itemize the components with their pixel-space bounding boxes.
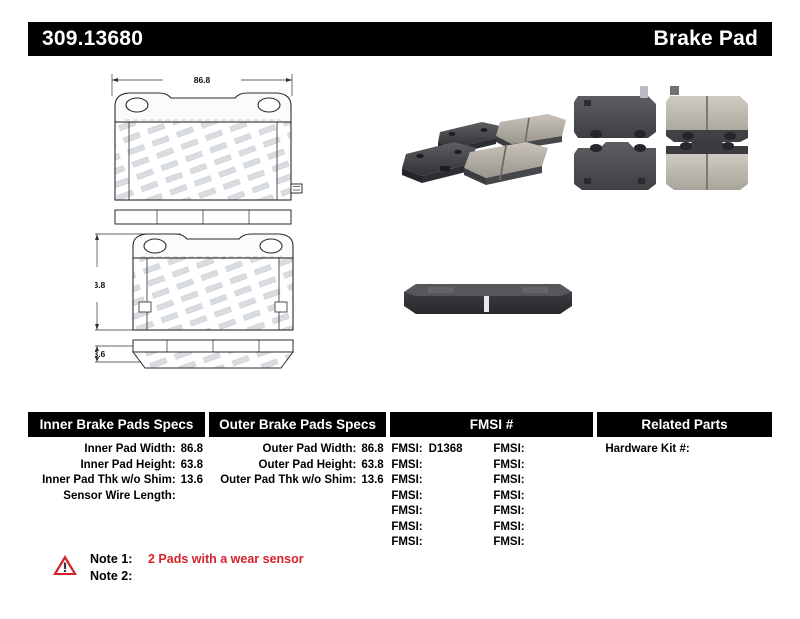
part-number: 309.13680 [42, 27, 143, 51]
spec-label: Inner Pad Height: [80, 458, 175, 474]
pad-flat-backing-top [574, 86, 656, 138]
pad-flat-face-top [666, 86, 748, 142]
fmsi-row: FMSI: D1368 [389, 442, 491, 458]
fmsi-row: FMSI: [491, 458, 593, 474]
fmsi-row: FMSI: [389, 520, 491, 536]
fmsi-label: FMSI: [493, 520, 524, 536]
fmsi-label: FMSI: [391, 442, 422, 458]
spec-label: Outer Pad Height: [259, 458, 357, 474]
spec-value: 86.8 [181, 442, 205, 458]
edge-notch-left [428, 287, 454, 293]
spec-row: Inner Pad Width: 86.8 [28, 442, 205, 458]
mounting-hole-right [258, 98, 280, 112]
photo-brake-pad-edge-view [398, 266, 578, 328]
fmsi-row: FMSI: [491, 504, 593, 520]
fmsi-label: FMSI: [391, 489, 422, 505]
note-1-label: Note 1: [90, 551, 142, 568]
fmsi-label: FMSI: [493, 504, 524, 520]
fmsi-label: FMSI: [391, 473, 422, 489]
spec-value: 63.8 [181, 458, 205, 474]
spec-value: 86.8 [361, 442, 385, 458]
fmsi-label: FMSI: [391, 458, 422, 474]
header-fmsi: FMSI # [390, 412, 593, 437]
note-row-2: Note 2: [90, 568, 304, 585]
datasheet-page: 309.13680 Brake Pad [0, 0, 800, 619]
column-fmsi: FMSI: D1368 FMSI: FMSI: FMSI: [389, 442, 593, 551]
spec-value: 63.8 [361, 458, 385, 474]
warning-triangle-icon [52, 553, 78, 577]
fmsi-label: FMSI: [391, 535, 422, 551]
front-friction-surface [133, 258, 293, 330]
spec-label: Outer Pad Thk w/o Shim: [220, 473, 356, 489]
header-outer-specs: Outer Brake Pads Specs [209, 412, 386, 437]
fmsi-row: FMSI: [491, 520, 593, 536]
pad-top-view: 86.8 [112, 74, 302, 224]
dimension-height-label: 63.8 [95, 280, 106, 290]
fmsi-label: FMSI: [391, 504, 422, 520]
spec-row: Inner Pad Height: 63.8 [28, 458, 205, 474]
fmsi-row: FMSI: [491, 473, 593, 489]
fmsi-row: FMSI: [389, 535, 491, 551]
column-related-parts: Hardware Kit #: [597, 442, 772, 551]
front-hole-left [144, 239, 166, 253]
notes-section: Note 1: 2 Pads with a wear sensor Note 2… [52, 551, 304, 585]
spec-label: Inner Pad Width: [84, 442, 175, 458]
pad-drawing-svg: 86.8 [95, 62, 355, 392]
column-outer-specs: Outer Pad Width: 86.8 Outer Pad Height: … [209, 442, 386, 551]
header-bar: 309.13680 Brake Pad [28, 22, 772, 56]
column-inner-specs: Inner Pad Width: 86.8 Inner Pad Height: … [28, 442, 205, 551]
front-detail-right [275, 302, 287, 312]
header-inner-specs: Inner Brake Pads Specs [28, 412, 205, 437]
photo-brake-pads-angled-group [396, 84, 576, 189]
spec-label: Inner Pad Thk w/o Shim: [42, 473, 176, 489]
wear-sensor-tab [291, 184, 302, 193]
spec-row: Outer Pad Height: 63.8 [209, 458, 386, 474]
fmsi-label: FMSI: [493, 442, 524, 458]
fmsi-value: D1368 [429, 442, 463, 458]
photo-brake-pads-flat-group [570, 80, 760, 195]
fmsi-row: FMSI: [491, 489, 593, 505]
spec-value: 13.6 [181, 473, 205, 489]
front-detail-left [139, 302, 151, 312]
note-2-label: Note 2: [90, 568, 142, 585]
spec-row: Sensor Wire Length: [28, 489, 205, 505]
spec-label: Outer Pad Width: [263, 442, 357, 458]
fmsi-row: FMSI: [389, 504, 491, 520]
fmsi-label: FMSI: [493, 489, 524, 505]
spec-value: 13.6 [361, 473, 385, 489]
note-lines: Note 1: 2 Pads with a wear sensor Note 2… [90, 551, 304, 585]
table-header-row: Inner Brake Pads Specs Outer Brake Pads … [28, 412, 772, 437]
friction-surface [115, 122, 291, 200]
mounting-hole-left [126, 98, 148, 112]
spec-row: Outer Pad Thk w/o Shim: 13.6 [209, 473, 386, 489]
fmsi-label: FMSI: [493, 458, 524, 474]
front-hole-right [260, 239, 282, 253]
note-1-text: 2 Pads with a wear sensor [148, 551, 304, 568]
header-related-parts: Related Parts [597, 412, 772, 437]
fmsi-label: FMSI: [493, 473, 524, 489]
related-part-row: Hardware Kit #: [597, 442, 772, 458]
dimension-thickness-label: 13.6 [95, 349, 106, 359]
note-row-1: Note 1: 2 Pads with a wear sensor [90, 551, 304, 568]
spec-row: Inner Pad Thk w/o Shim: 13.6 [28, 473, 205, 489]
edge-notch-right [522, 287, 548, 293]
fmsi-row: FMSI: [491, 535, 593, 551]
fmsi-row: FMSI: [389, 473, 491, 489]
spec-row: Outer Pad Width: 86.8 [209, 442, 386, 458]
pad-photo-2 [402, 142, 476, 183]
specs-table: Inner Brake Pads Specs Outer Brake Pads … [28, 412, 772, 551]
pad-front-view: 63.8 13.6 [95, 234, 293, 368]
fmsi-subcolumn-2: FMSI: FMSI: FMSI: FMSI: [491, 442, 593, 551]
fmsi-label: FMSI: [391, 520, 422, 536]
fmsi-row: FMSI: [389, 458, 491, 474]
pad-flat-backing-bottom [574, 142, 656, 190]
fmsi-label: FMSI: [493, 535, 524, 551]
pad-edge-iso [133, 340, 293, 368]
product-type: Brake Pad [653, 27, 758, 51]
wear-sensor-clip [640, 86, 648, 98]
fmsi-subcolumn-1: FMSI: D1368 FMSI: FMSI: FMSI: [389, 442, 491, 551]
pad-center-slot [484, 296, 489, 312]
dimension-width-label: 86.8 [194, 75, 211, 85]
pad-flat-face-bottom [666, 140, 748, 190]
fmsi-row: FMSI: [491, 442, 593, 458]
table-body: Inner Pad Width: 86.8 Inner Pad Height: … [28, 442, 772, 551]
fmsi-row: FMSI: [389, 489, 491, 505]
spec-label: Sensor Wire Length: [63, 489, 175, 505]
